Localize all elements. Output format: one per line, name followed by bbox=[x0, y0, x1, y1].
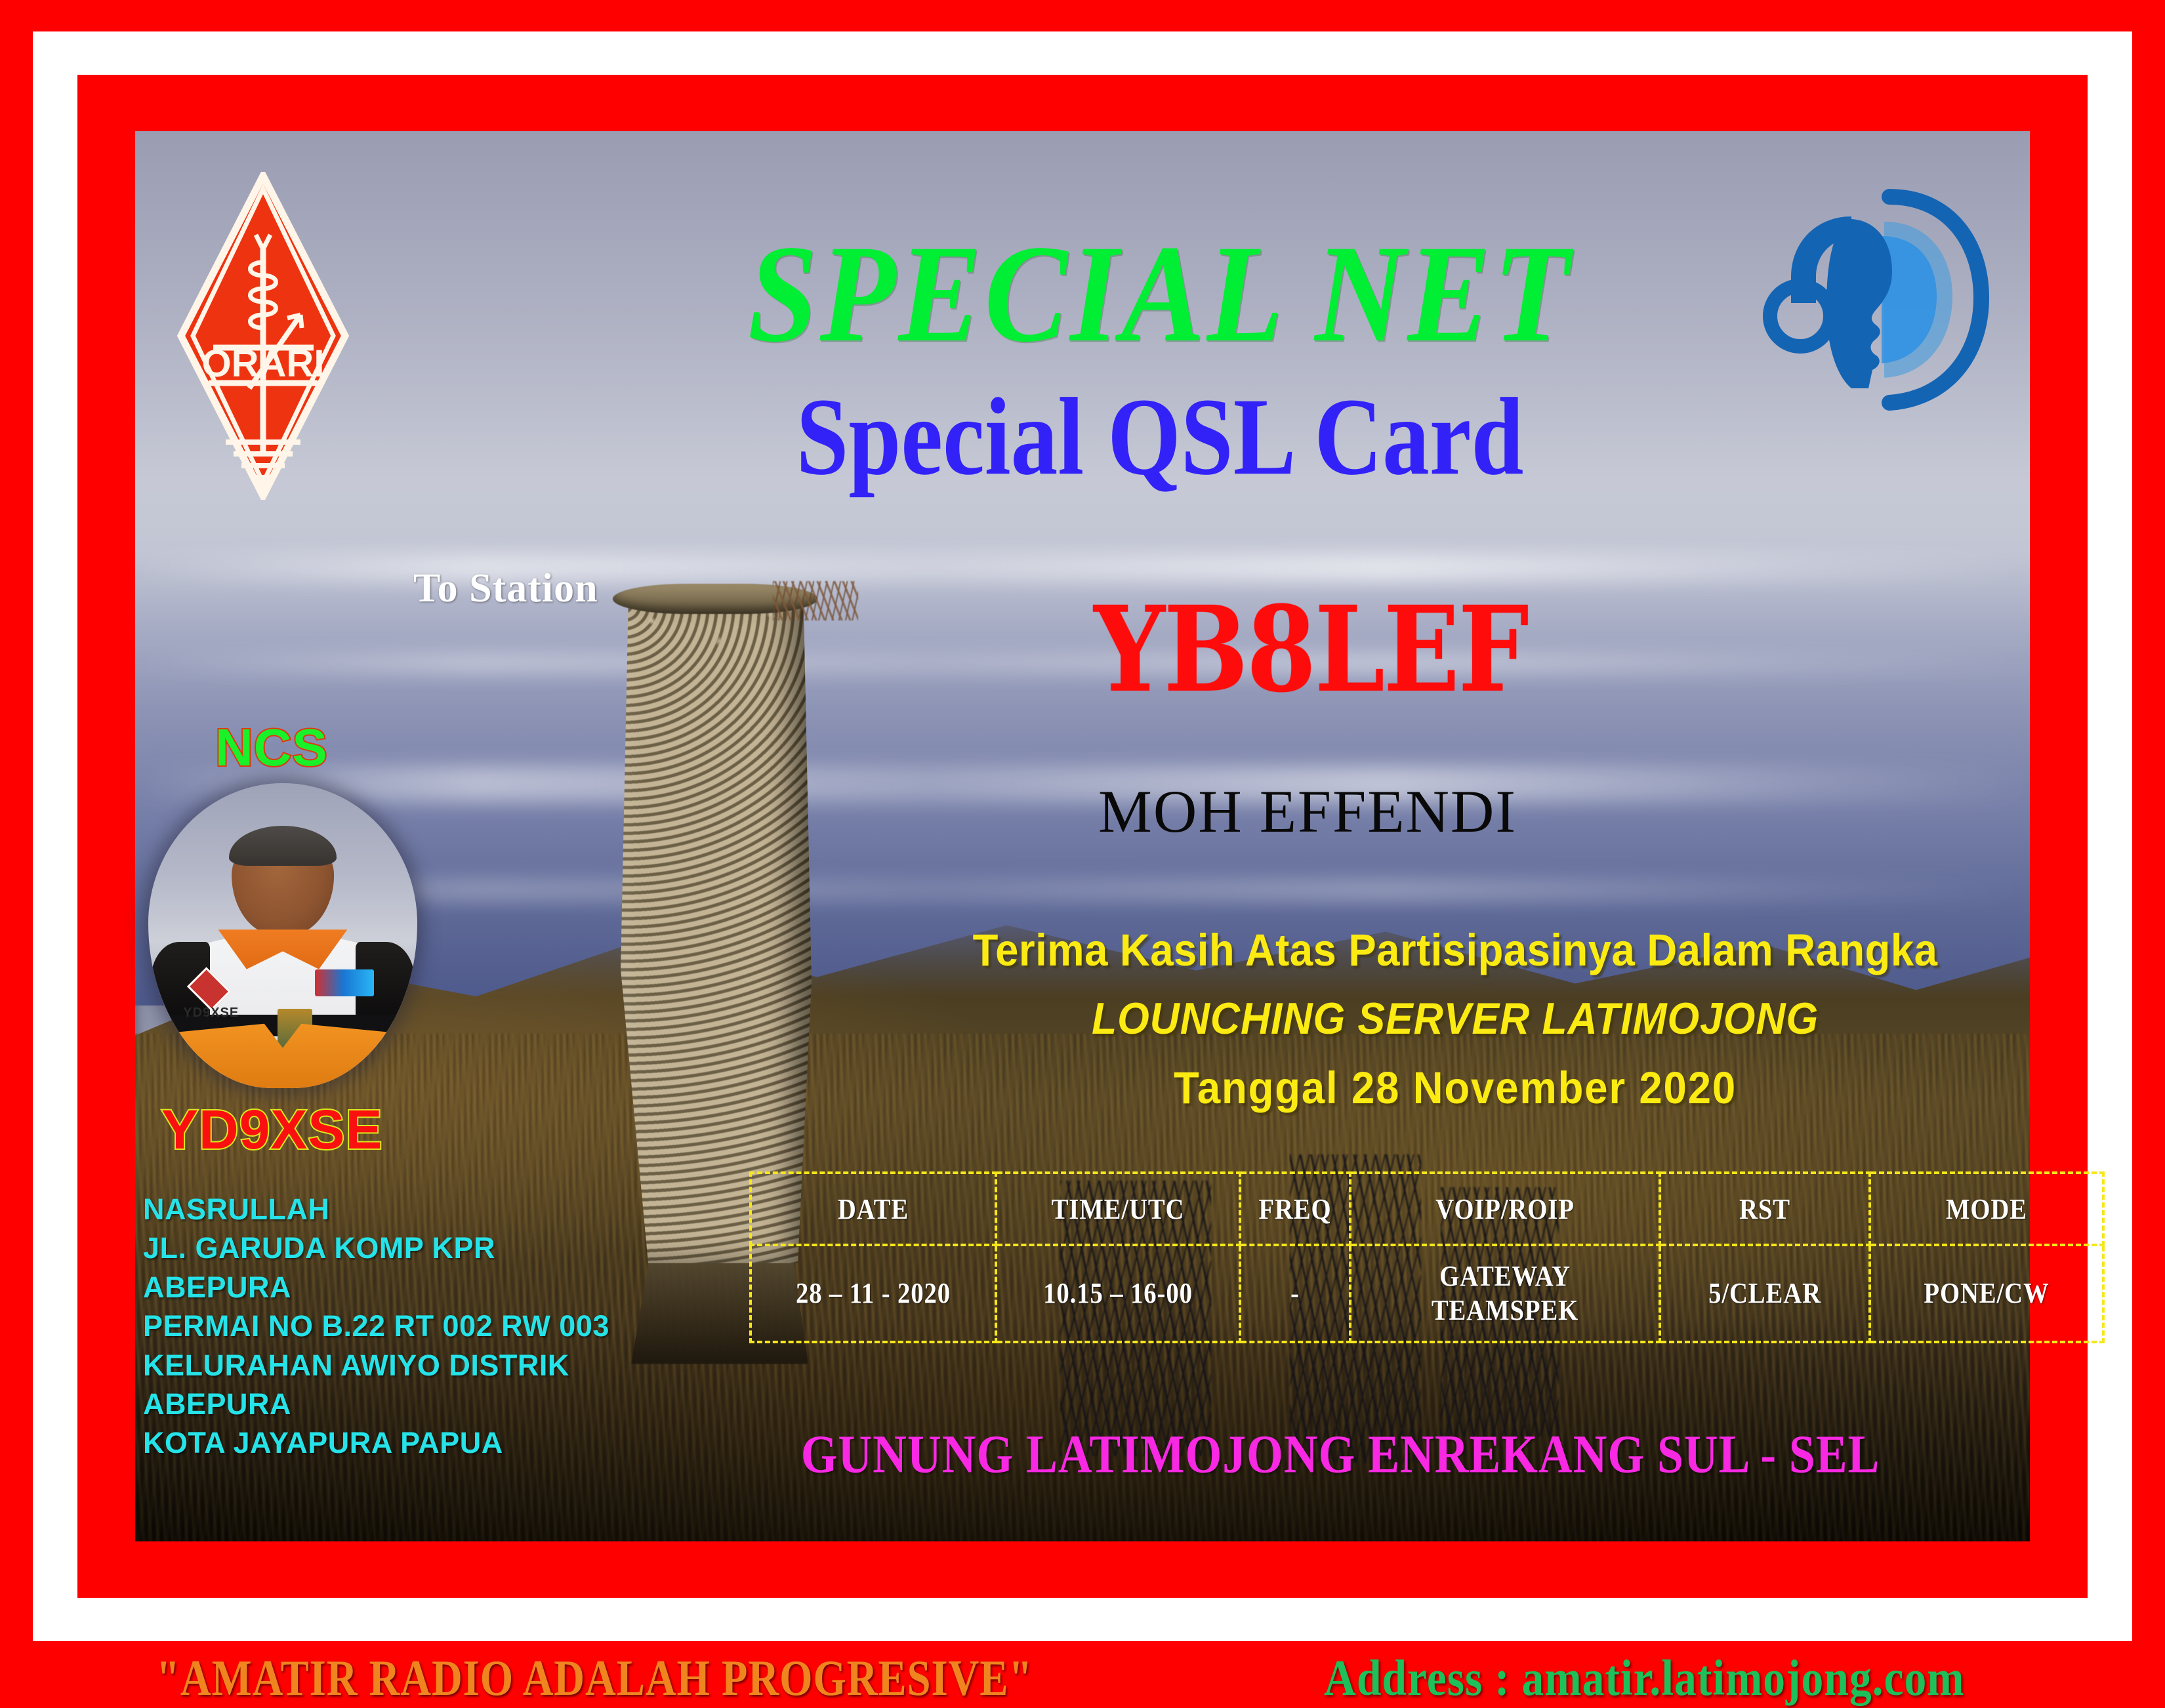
address-line: KELURAHAN AWIYO DISTRIK bbox=[143, 1346, 668, 1385]
table-row: 28 – 11 - 2020 10.15 – 16-00 - GATEWAY T… bbox=[751, 1245, 2103, 1342]
operator-name: MOH EFFENDI bbox=[930, 777, 1685, 846]
column-header-voip-roip: VOIP/ROIP bbox=[1350, 1173, 1660, 1245]
footer-web-address: Address : amatir.latimojong.com bbox=[1324, 1649, 1965, 1708]
column-header-rst: RST bbox=[1660, 1173, 1870, 1245]
radio-head-headphones-icon bbox=[1753, 178, 1989, 415]
photo-uniform-callsign-text: YD9XSE bbox=[183, 1006, 239, 1021]
cell-voip: GATEWAY TEAMSPEK bbox=[1350, 1245, 1660, 1342]
cell-date: 28 – 11 - 2020 bbox=[751, 1245, 996, 1342]
qso-table-body: 28 – 11 - 2020 10.15 – 16-00 - GATEWAY T… bbox=[751, 1245, 2103, 1342]
photo-chest-patch bbox=[315, 969, 374, 997]
cell-mode: PONE/CW bbox=[1870, 1245, 2103, 1342]
qso-table-head: DATE TIME/UTC FREQ VOIP/ROIP RST MODE bbox=[751, 1173, 2103, 1245]
frame-inner-red-band: ORARI bbox=[77, 75, 2088, 1598]
event-thanks-line: Terima Kasih Atas Partisipasinya Dalam R… bbox=[852, 924, 2059, 976]
column-header-mode: MODE bbox=[1870, 1173, 2103, 1245]
orari-logo-text: ORARI bbox=[202, 342, 325, 385]
table-header-row: DATE TIME/UTC FREQ VOIP/ROIP RST MODE bbox=[751, 1173, 2103, 1245]
event-date-line: Tanggal 28 November 2020 bbox=[852, 1062, 2059, 1114]
ncs-operator-photo: YD9XSE bbox=[148, 783, 417, 1088]
qsl-card-frame: ORARI bbox=[0, 0, 2165, 1673]
column-header-freq: FREQ bbox=[1240, 1173, 1350, 1245]
cell-rst: 5/CLEAR bbox=[1660, 1245, 1870, 1342]
ncs-role-label: NCS bbox=[215, 718, 328, 778]
station-callsign: YB8LEF bbox=[1016, 580, 1606, 718]
frame-white-gap: ORARI bbox=[33, 31, 2132, 1641]
orari-logo: ORARI bbox=[177, 172, 349, 500]
page-subtitle-special-qsl-card: Special QSL Card bbox=[556, 382, 1765, 493]
address-line: KOTA JAYAPURA PAPUA bbox=[143, 1423, 668, 1462]
ncs-callsign: YD9XSE bbox=[161, 1098, 383, 1162]
to-station-label: To Station bbox=[413, 565, 598, 612]
address-line: JL. GARUDA KOMP KPR bbox=[143, 1229, 668, 1267]
page-title-special-net: SPECIAL NET bbox=[537, 224, 1783, 364]
address-line: ABEPURA bbox=[143, 1385, 668, 1423]
card-content-layer: ORARI bbox=[77, 75, 2088, 1598]
address-line: ABEPURA bbox=[143, 1268, 668, 1307]
qso-log-table: DATE TIME/UTC FREQ VOIP/ROIP RST MODE 28… bbox=[749, 1171, 2105, 1343]
event-location-line: GUNUNG LATIMOJONG ENREKANG SUL - SEL bbox=[752, 1423, 1929, 1485]
footer-slogan: "AMATIR RADIO ADALAH PROGRESIVE" bbox=[156, 1649, 1033, 1708]
cell-freq: - bbox=[1240, 1245, 1350, 1342]
column-header-time-utc: TIME/UTC bbox=[996, 1173, 1240, 1245]
column-header-date: DATE bbox=[751, 1173, 996, 1245]
return-address-block: NASRULLAH JL. GARUDA KOMP KPR ABEPURA PE… bbox=[143, 1190, 668, 1463]
event-title-line: LOUNCHING SERVER LATIMOJONG bbox=[852, 993, 2059, 1044]
address-line: PERMAI NO B.22 RT 002 RW 003 bbox=[143, 1307, 668, 1345]
address-line: NASRULLAH bbox=[143, 1190, 668, 1229]
cell-time: 10.15 – 16-00 bbox=[996, 1245, 1240, 1342]
